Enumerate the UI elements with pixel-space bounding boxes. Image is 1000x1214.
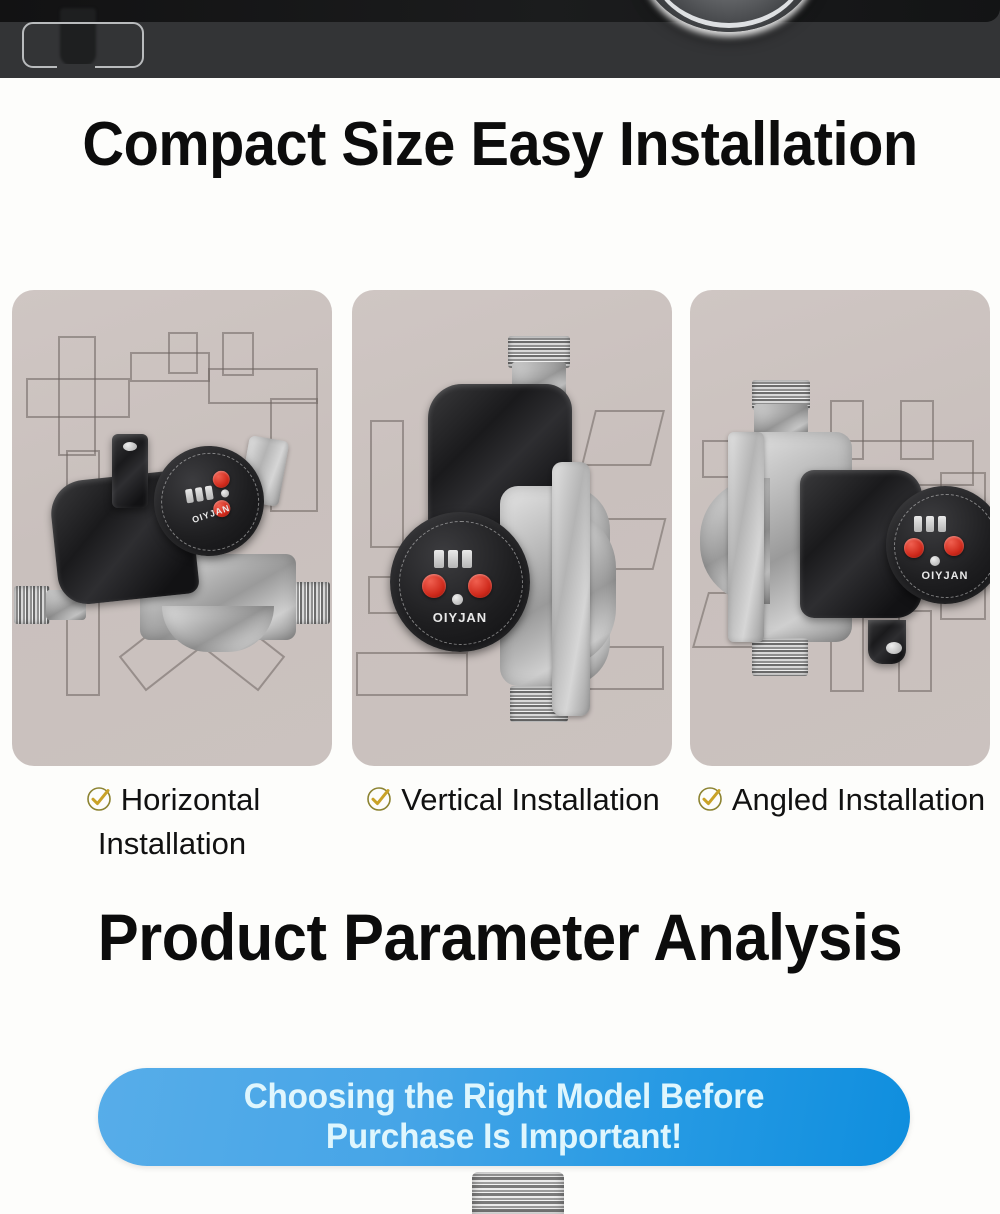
mounting-bracket bbox=[552, 462, 590, 716]
pump-inlet-top bbox=[754, 404, 808, 434]
caption-horizontal: Horizontal Installation bbox=[12, 780, 332, 863]
panel-horizontal-installation[interactable]: OIYJAN bbox=[12, 290, 332, 766]
check-circle-icon bbox=[695, 784, 725, 824]
pipe-thread-bottom-preview bbox=[472, 1172, 564, 1214]
blueprint-shape bbox=[370, 420, 404, 548]
blueprint-shape bbox=[168, 332, 198, 374]
blueprint-shape bbox=[581, 410, 665, 466]
product-outline-icon bbox=[22, 22, 144, 68]
led-indicator bbox=[462, 550, 472, 568]
page-title-parameters: Product Parameter Analysis bbox=[35, 903, 965, 973]
caption-angled: Angled Installation bbox=[690, 780, 990, 824]
dial-tick-ring bbox=[399, 521, 523, 645]
led-indicator bbox=[938, 516, 946, 532]
caption-text: Horizontal Installation bbox=[98, 782, 260, 861]
panel-angled-installation[interactable]: OIYJAN bbox=[690, 290, 990, 766]
control-dial[interactable]: OIYJAN bbox=[390, 512, 530, 652]
blueprint-shape bbox=[26, 378, 130, 418]
mode-button[interactable] bbox=[422, 574, 446, 598]
product-detail-page: Compact Size Easy Installation bbox=[0, 0, 1000, 1214]
cta-line-2: Purchase Is Important! bbox=[244, 1117, 765, 1157]
led-indicator bbox=[448, 550, 458, 568]
blueprint-shape bbox=[356, 652, 468, 696]
speed-button[interactable] bbox=[468, 574, 492, 598]
cta-line-1: Choosing the Right Model Before bbox=[244, 1077, 765, 1117]
caption-vertical: Vertical Installation bbox=[352, 780, 672, 824]
panel-vertical-installation[interactable]: OIYJAN bbox=[352, 290, 672, 766]
mounting-bracket bbox=[728, 432, 764, 642]
brand-label: OIYJAN bbox=[390, 610, 530, 625]
check-circle-icon bbox=[364, 784, 394, 824]
pipe-thread-left bbox=[14, 586, 50, 624]
installation-panels: OIYJAN bbox=[0, 290, 1000, 766]
cta-banner[interactable]: Choosing the Right Model Before Purchase… bbox=[98, 1068, 910, 1166]
top-photo-strip bbox=[0, 0, 1000, 78]
check-circle-icon bbox=[84, 784, 114, 824]
led-indicator bbox=[926, 516, 934, 532]
status-dot bbox=[930, 556, 940, 566]
junction-screw bbox=[123, 442, 137, 451]
speed-button[interactable] bbox=[944, 536, 964, 556]
mode-button[interactable] bbox=[904, 538, 924, 558]
junction-screw bbox=[886, 642, 902, 654]
product-outline-notch bbox=[57, 64, 95, 74]
brand-label: OIYJAN bbox=[886, 570, 990, 582]
caption-text: Angled Installation bbox=[732, 782, 985, 817]
junction-box bbox=[868, 620, 906, 664]
pipe-thread-bottom bbox=[752, 638, 808, 676]
led-indicator bbox=[434, 550, 444, 568]
caption-text: Vertical Installation bbox=[401, 782, 659, 817]
status-dot bbox=[452, 594, 463, 605]
top-strip-upper-band bbox=[0, 0, 1000, 22]
cta-text: Choosing the Right Model Before Purchase… bbox=[244, 1077, 765, 1157]
led-indicator bbox=[914, 516, 922, 532]
page-title-installation: Compact Size Easy Installation bbox=[35, 112, 965, 178]
